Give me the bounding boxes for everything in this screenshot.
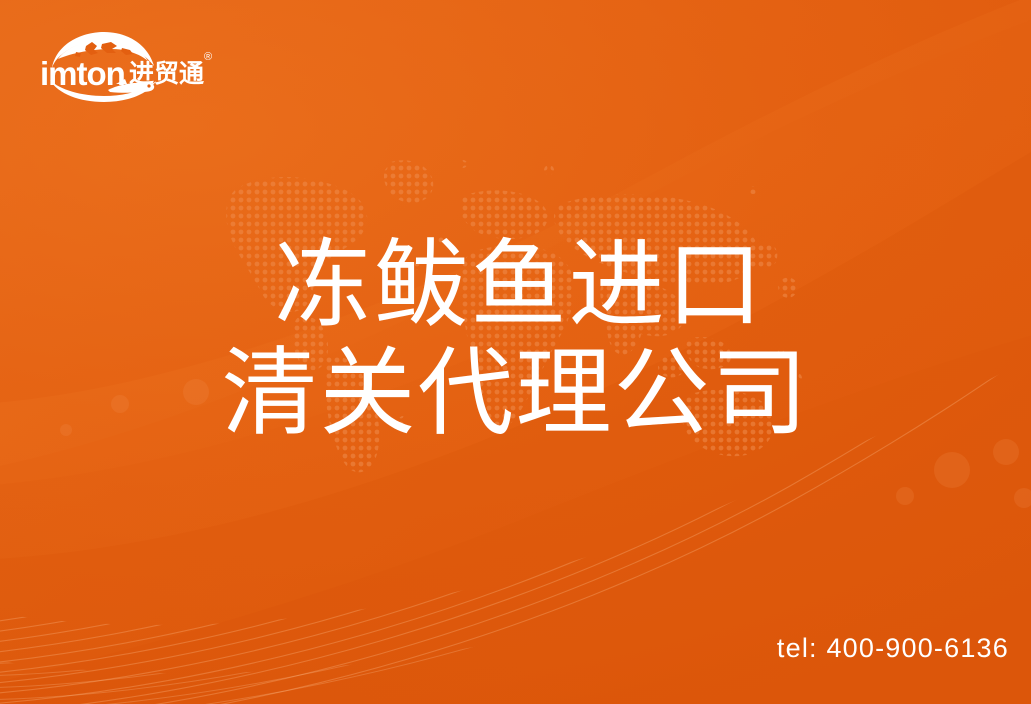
brand-logo[interactable]: imton 进贸通 ® [36,28,236,104]
page-title: 冻鲅鱼进口 清关代理公司 [0,232,1031,449]
headline-line-2: 清关代理公司 [0,340,1031,448]
logo-wordmark: imton [40,55,125,92]
headline-line-1: 冻鲅鱼进口 [0,232,1031,340]
contact-telephone[interactable]: tel: 400-900-6136 [777,633,1009,664]
trademark-icon: ® [204,51,212,63]
logo-chinese: 进贸通 [129,60,204,88]
poster-canvas: imton 进贸通 ® 冻鲅鱼进口 清关代理公司 tel: 400-900-61… [0,0,1031,704]
